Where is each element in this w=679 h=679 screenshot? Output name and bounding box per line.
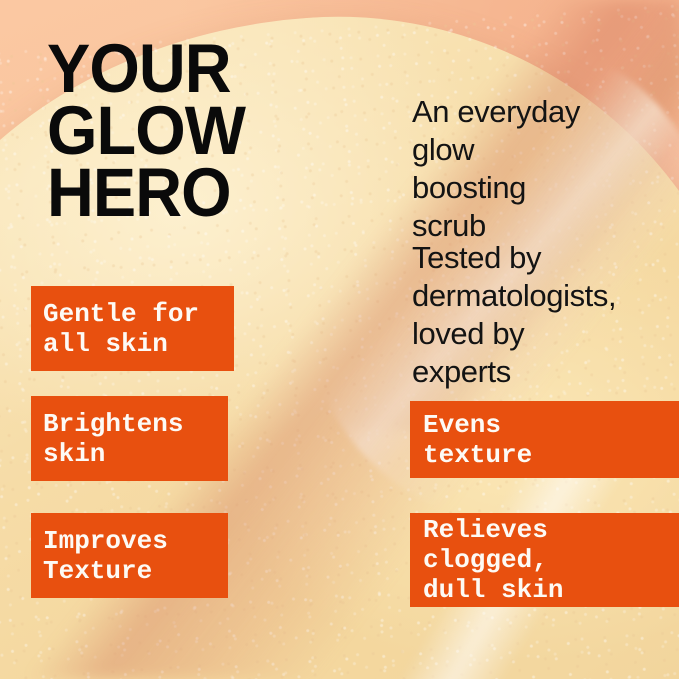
poster-content: YOUR GLOW HERO An everyday glow boosting…	[0, 0, 679, 679]
benefit-badge-brightens: Brightens skin	[31, 396, 228, 481]
product-promo-poster: YOUR GLOW HERO An everyday glow boosting…	[0, 0, 679, 679]
benefit-badge-brightens-label: Brightens skin	[43, 409, 183, 469]
benefit-badge-improves: Improves Texture	[31, 513, 228, 598]
benefit-badge-evens-label: Evens texture	[423, 410, 532, 470]
page-title: YOUR GLOW HERO	[47, 38, 245, 224]
benefit-badge-gentle-label: Gentle for all skin	[43, 299, 199, 359]
tagline-paragraph-1: An everyday glow boosting scrub	[412, 93, 580, 245]
benefit-badge-evens: Evens texture	[410, 401, 679, 478]
benefit-badge-relieves-label: Relieves clogged, dull skin	[423, 515, 563, 605]
benefit-badge-gentle: Gentle for all skin	[31, 286, 234, 371]
benefit-badge-relieves: Relieves clogged, dull skin	[410, 513, 679, 607]
tagline-paragraph-2: Tested by dermatologists, loved by exper…	[412, 239, 616, 391]
benefit-badge-improves-label: Improves Texture	[43, 526, 168, 586]
